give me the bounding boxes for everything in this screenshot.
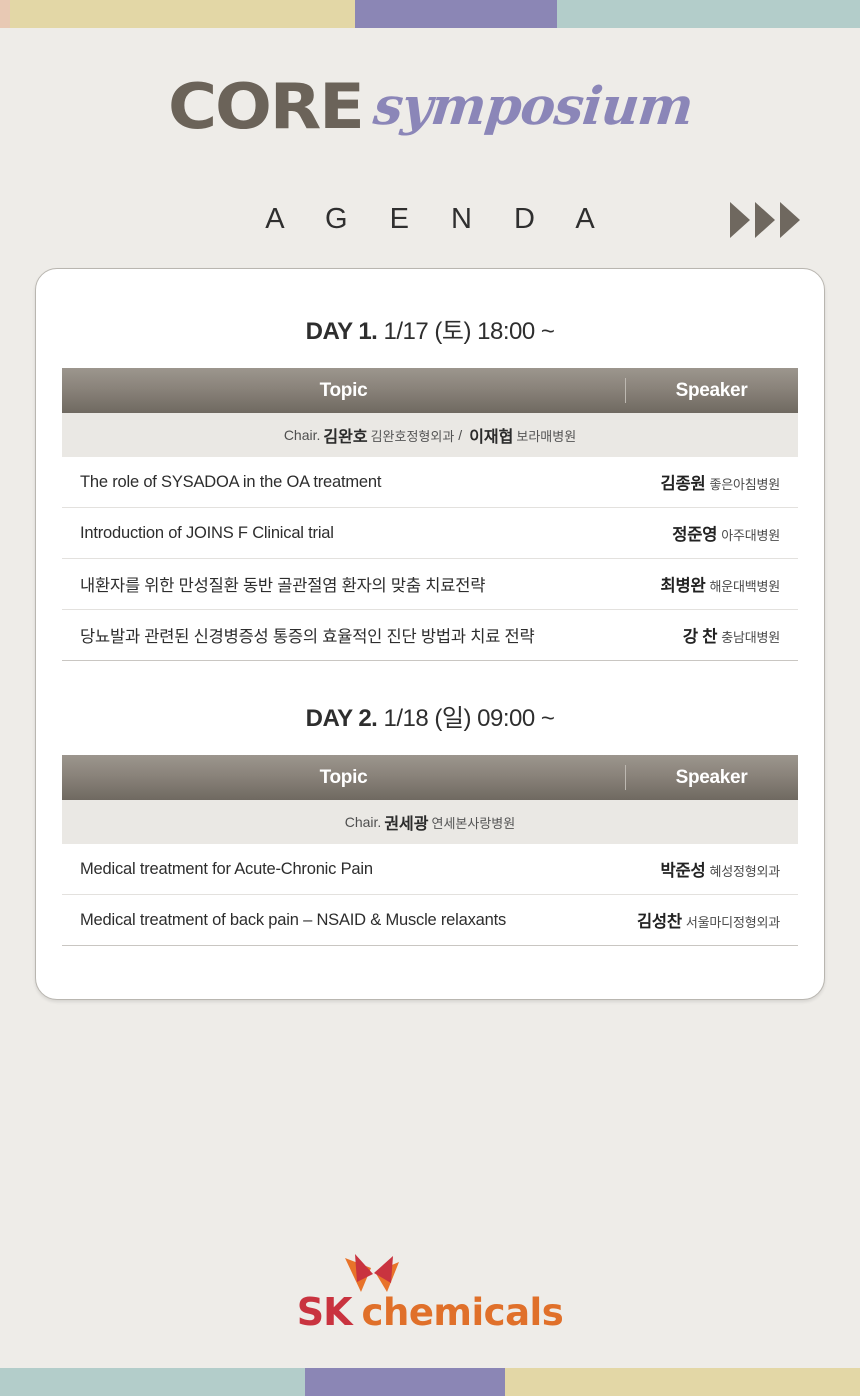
speaker-name: 박준성 (660, 862, 705, 880)
day-label: DAY 1. (306, 318, 378, 345)
day-datetime: 1/17 (토) 18:00 ~ (377, 318, 554, 345)
chair-affiliation: 김완호정형외과 (371, 426, 455, 445)
speaker-name: 최병완 (660, 577, 705, 595)
chair-name: 권세광 (384, 810, 428, 834)
session-topic: Medical treatment of back pain – NSAID &… (62, 911, 637, 930)
table-row: The role of SYSADOA in the OA treatment김… (62, 457, 798, 508)
sponsor-logo: SKchemicals (0, 1290, 860, 1334)
speaker-affiliation: 아주대병원 (721, 528, 780, 543)
session-topic: The role of SYSADOA in the OA treatment (62, 473, 660, 492)
session-speaker: 정준영아주대병원 (672, 521, 798, 545)
speaker-affiliation: 서울마디정형외과 (686, 915, 780, 930)
session-speaker: 박준성혜성정형외과 (660, 857, 798, 881)
session-speaker: 김종원좋은아침병원 (660, 470, 798, 494)
session-topic: Introduction of JOINS F Clinical trial (62, 524, 672, 543)
day-heading-day2: DAY 2. 1/18 (일) 09:00 ~ (36, 698, 824, 733)
session-topic: Medical treatment for Acute-Chronic Pain (62, 860, 660, 879)
session-speaker: 김성찬서울마디정형외과 (637, 908, 798, 932)
speaker-name: 김성찬 (637, 913, 682, 931)
table-row: 내환자를 위한 만성질환 동반 골관절염 환자의 맞춤 치료전략최병완해운대백병… (62, 559, 798, 610)
sk-butterfly-logo-icon (341, 1252, 403, 1296)
chair-affiliation: 연세본사랑병원 (432, 813, 516, 832)
triple-chevron-right-icon (728, 198, 802, 242)
day-datetime: 1/18 (일) 09:00 ~ (377, 705, 554, 732)
color-bar-segment-purple (305, 1368, 505, 1396)
agenda-card: DAY 1. 1/17 (토) 18:00 ~TopicSpeakerChair… (35, 268, 825, 1000)
table-header: TopicSpeaker (62, 368, 798, 413)
chemicals-wordmark: chemicals (362, 1291, 564, 1334)
table-row: Introduction of JOINS F Clinical trial정준… (62, 508, 798, 559)
chair-prefix: Chair. (345, 814, 382, 830)
chair-prefix: Chair. (284, 427, 321, 443)
chair-row: Chair.권세광연세본사랑병원 (62, 800, 798, 844)
brand-logo: COREsymposium (0, 70, 860, 143)
column-divider (625, 378, 626, 403)
top-color-bar (0, 0, 860, 28)
column-header-speaker: Speaker (625, 380, 798, 402)
color-bar-segment-peach (0, 0, 10, 28)
speaker-name: 강 찬 (683, 628, 717, 646)
agenda-heading-row: A G E N D A (0, 196, 860, 256)
speaker-name: 정준영 (672, 526, 717, 544)
column-header-speaker: Speaker (625, 767, 798, 789)
speaker-affiliation: 좋은아침병원 (709, 477, 780, 492)
day-label: DAY 2. (306, 705, 378, 732)
symposium-wordmark: symposium (371, 76, 696, 137)
chair-row: Chair.김완호김완호정형외과/이재협보라매병원 (62, 413, 798, 457)
column-header-topic: Topic (62, 767, 625, 789)
color-bar-segment-teal (557, 0, 860, 28)
chair-name: 김완호 (323, 423, 367, 447)
session-speaker: 최병완해운대백병원 (660, 572, 798, 596)
speaker-name: 김종원 (660, 475, 705, 493)
color-bar-segment-teal (0, 1368, 305, 1396)
speaker-affiliation: 충남대병원 (721, 630, 780, 645)
chair-name: 이재협 (469, 423, 513, 447)
table-header: TopicSpeaker (62, 755, 798, 800)
column-header-topic: Topic (62, 380, 625, 402)
session-topic: 내환자를 위한 만성질환 동반 골관절염 환자의 맞춤 치료전략 (62, 572, 660, 596)
color-bar-segment-khaki (10, 0, 355, 28)
table-row: Medical treatment of back pain – NSAID &… (62, 895, 798, 946)
chair-affiliation: 보라매병원 (516, 426, 576, 445)
table-row: Medical treatment for Acute-Chronic Pain… (62, 844, 798, 895)
bottom-color-bar (0, 1368, 860, 1396)
color-bar-segment-purple (355, 0, 557, 28)
sk-wordmark: SK (297, 1290, 352, 1334)
speaker-affiliation: 혜성정형외과 (709, 864, 780, 879)
column-divider (625, 765, 626, 790)
speaker-affiliation: 해운대백병원 (709, 579, 780, 594)
sk-chemicals-lockup: SKchemicals (297, 1290, 564, 1334)
day-heading-day1: DAY 1. 1/17 (토) 18:00 ~ (36, 311, 824, 346)
agenda-table-day1: TopicSpeakerChair.김완호김완호정형외과/이재협보라매병원The… (62, 368, 798, 661)
session-speaker: 강 찬충남대병원 (683, 623, 798, 647)
agenda-table-day2: TopicSpeakerChair.권세광연세본사랑병원Medical trea… (62, 755, 798, 946)
core-wordmark: CORE (168, 70, 363, 143)
table-row: 당뇨발과 관련된 신경병증성 통증의 효율적인 진단 방법과 치료 전략강 찬충… (62, 610, 798, 661)
session-topic: 당뇨발과 관련된 신경병증성 통증의 효율적인 진단 방법과 치료 전략 (62, 623, 683, 647)
page-header: COREsymposium A G E N D A (0, 28, 860, 268)
chair-separator: / (458, 427, 462, 443)
color-bar-segment-khaki (505, 1368, 860, 1396)
